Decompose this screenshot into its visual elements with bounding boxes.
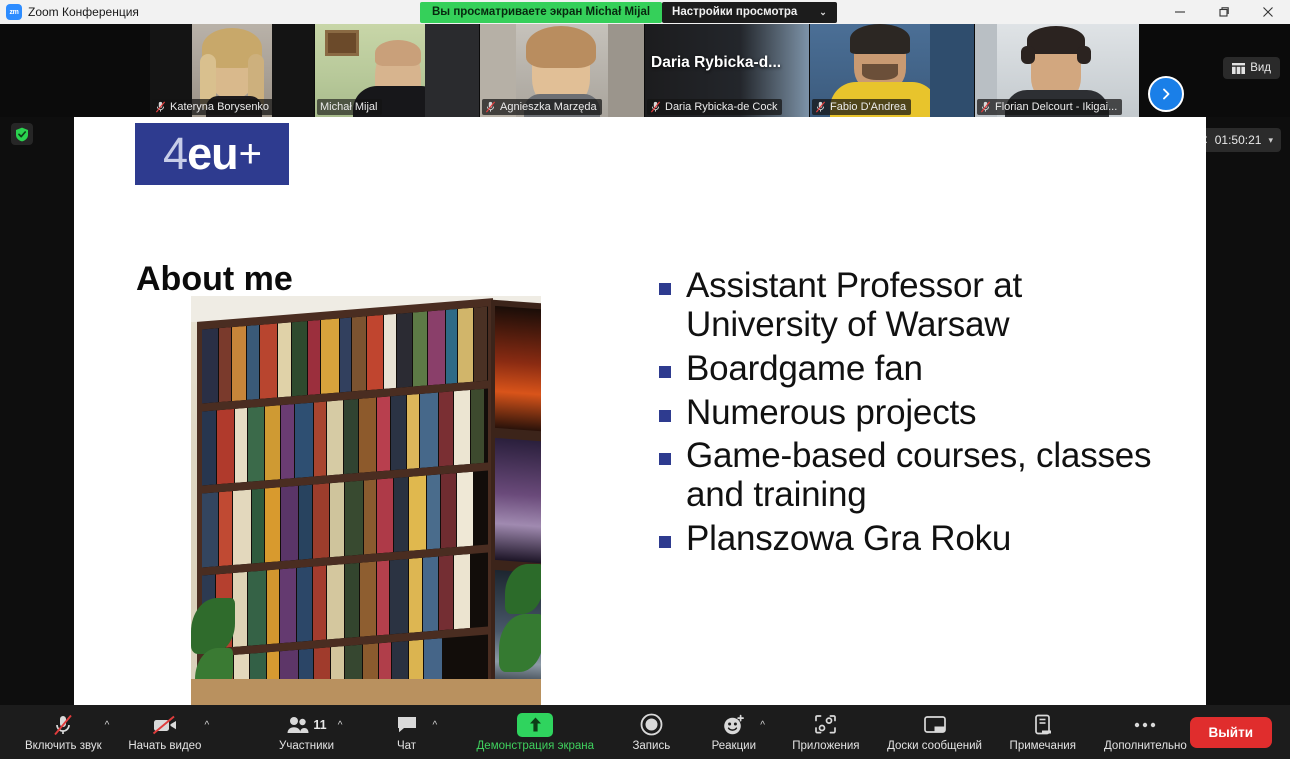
bullet-square-icon <box>659 283 671 295</box>
meeting-toolbar: Включить звук ^ Начать видео ^ <box>0 705 1290 759</box>
leave-meeting-button[interactable]: Выйти <box>1190 717 1273 748</box>
participant-tile[interactable]: Fabio D'Andrea <box>810 24 974 117</box>
video-options-caret[interactable]: ^ <box>205 720 214 745</box>
toolbar-button-reactions[interactable]: Реакции <box>707 705 760 759</box>
microphone-muted-icon <box>650 101 661 113</box>
participants-options-caret[interactable]: ^ <box>338 720 347 745</box>
toolbar-label: Участники <box>279 740 334 752</box>
zoom-logo-icon: zm <box>6 4 22 20</box>
tile-name: Michał Mijal <box>320 101 377 113</box>
slide-title: About me <box>136 260 293 299</box>
minimize-icon[interactable] <box>1158 0 1202 24</box>
participant-tiles: Kateryna Borysenko Michał Mijal <box>150 24 1140 117</box>
timer-value: 01:50:21 <box>1215 133 1262 147</box>
more-icon <box>1133 713 1157 737</box>
slide-bullet-list: Assistant Professor at University of War… <box>659 267 1169 564</box>
tile-name: Daria Rybicka-de Cock <box>665 101 777 113</box>
apps-icon <box>814 713 837 737</box>
tile-name: Agnieszka Marzęda <box>500 101 597 113</box>
toolbar-button-notes[interactable]: Примечания <box>1006 705 1079 759</box>
bullet-text: Assistant Professor at University of War… <box>686 267 1169 345</box>
tile-name-badge: Fabio D'Andrea <box>812 99 911 115</box>
close-icon[interactable] <box>1246 0 1290 24</box>
toolbar-button-participants[interactable]: 11 Участники <box>275 705 338 759</box>
view-settings-label: Настройки просмотра <box>672 2 797 23</box>
logo-word: eu <box>187 128 238 180</box>
participant-tile[interactable]: Daria Rybicka-d... Daria Rybicka-de Cock <box>645 24 809 117</box>
toolbar-button-video[interactable]: Начать видео <box>125 705 204 759</box>
toolbar-button-whiteboards[interactable]: Доски сообщений <box>885 705 984 759</box>
shared-screen-stage: ⧗ 01:50:21 ▾ 4 eu + About me <box>0 117 1290 705</box>
video-off-icon <box>152 713 178 737</box>
toolbar-label: Чат <box>397 740 416 752</box>
tile-active-speaker-label: Daria Rybicka-d... <box>651 54 781 72</box>
tile-name: Florian Delcourt - Ikigai... <box>995 101 1117 113</box>
share-screen-icon <box>517 713 553 737</box>
bullet-text: Planszowa Gra Roku <box>686 520 1011 559</box>
microphone-muted-icon <box>980 101 991 113</box>
tile-name-badge: Kateryna Borysenko <box>152 99 274 115</box>
app-title: Zoom Конференция <box>28 5 139 19</box>
toolbar-label: Примечания <box>1010 740 1076 752</box>
bullet-text: Game-based courses, classes and training <box>686 437 1169 515</box>
share-status-group: Вы просматриваете экран Michał Mijal Нас… <box>420 0 837 24</box>
reactions-options-caret[interactable]: ^ <box>760 720 769 745</box>
participant-tile[interactable]: Agnieszka Marzęda <box>480 24 644 117</box>
photo-floor <box>191 679 541 705</box>
toolbar-label: Приложения <box>792 740 859 752</box>
tile-name-badge: Agnieszka Marzęda <box>482 99 602 115</box>
microphone-muted-icon <box>485 101 496 113</box>
tile-name: Fabio D'Andrea <box>830 101 906 113</box>
toolbar-label: Доски сообщений <box>887 740 982 752</box>
toolbar-label: Включить звук <box>25 740 102 752</box>
chevron-down-icon: ▾ <box>1268 135 1273 146</box>
whiteboard-icon <box>923 713 947 737</box>
toolbar-label: Запись <box>632 740 670 752</box>
toolbar-label: Демонстрация экрана <box>477 740 595 752</box>
participant-thumbnail-strip: Kateryna Borysenko Michał Mijal <box>0 24 1290 117</box>
microphone-muted-icon <box>155 101 166 113</box>
list-item: Boardgame fan <box>659 350 1169 389</box>
microphone-muted-icon <box>53 713 73 737</box>
chevron-down-icon: ⌄ <box>819 2 827 23</box>
zoom-meeting-window: zm Zoom Конференция Вы просматриваете эк… <box>0 0 1290 759</box>
boardgame-bookshelf-photo <box>191 296 541 705</box>
bullet-square-icon <box>659 536 671 548</box>
shield-check-icon[interactable] <box>11 123 33 145</box>
participant-tile[interactable]: Kateryna Borysenko <box>150 24 314 117</box>
chevron-right-icon <box>1159 87 1173 101</box>
list-item: Numerous projects <box>659 394 1169 433</box>
notes-icon <box>1033 713 1053 737</box>
bullet-square-icon <box>659 410 671 422</box>
chat-icon <box>396 713 418 737</box>
toolbar-button-audio[interactable]: Включить звук <box>22 705 105 759</box>
bullet-text: Boardgame fan <box>686 350 923 389</box>
4eu-plus-logo: 4 eu + <box>135 123 289 185</box>
participants-count: 11 <box>313 718 326 732</box>
share-status-banner: Вы просматриваете экран Michał Mijal <box>420 2 662 23</box>
restore-icon[interactable] <box>1202 0 1246 24</box>
list-item: Assistant Professor at University of War… <box>659 267 1169 345</box>
toolbar-button-apps[interactable]: Приложения <box>789 705 863 759</box>
participant-tile[interactable]: Michał Mijal <box>315 24 479 117</box>
title-bar-left: zm Zoom Конференция <box>0 4 420 20</box>
bullet-square-icon <box>659 453 671 465</box>
title-bar: zm Zoom Конференция Вы просматриваете эк… <box>0 0 1290 24</box>
chat-options-caret[interactable]: ^ <box>433 720 442 745</box>
tile-name-badge: Daria Rybicka-de Cock <box>647 99 782 115</box>
tile-name: Kateryna Borysenko <box>170 101 269 113</box>
tile-name-badge: Florian Delcourt - Ikigai... <box>977 99 1122 115</box>
bullet-text: Numerous projects <box>686 394 976 433</box>
bullet-square-icon <box>659 366 671 378</box>
view-settings-button[interactable]: Настройки просмотра ⌄ <box>662 2 837 23</box>
participants-icon: 11 <box>286 713 326 737</box>
view-button-label: Вид <box>1250 62 1271 74</box>
participant-tile[interactable]: Florian Delcourt - Ikigai... <box>975 24 1139 117</box>
audio-options-caret[interactable]: ^ <box>105 720 114 745</box>
presentation-slide: 4 eu + About me <box>74 117 1206 705</box>
grid-icon <box>1232 63 1245 74</box>
reactions-icon <box>722 713 746 737</box>
toolbar-button-share-screen[interactable]: Демонстрация экрана <box>475 705 595 759</box>
logo-plus: + <box>239 132 261 177</box>
list-item: Planszowa Gra Roku <box>659 520 1169 559</box>
window-controls <box>1158 0 1290 24</box>
logo-digit: 4 <box>163 128 187 180</box>
toolbar-button-record[interactable]: Запись <box>625 705 677 759</box>
next-participants-button[interactable] <box>1148 76 1184 112</box>
toolbar-label: Начать видео <box>128 740 201 752</box>
view-button[interactable]: Вид <box>1223 57 1280 79</box>
toolbar-button-chat[interactable]: Чат <box>381 705 433 759</box>
toolbar-label: Дополнительно <box>1104 740 1187 752</box>
tile-name-badge: Michał Mijal <box>317 99 382 115</box>
record-icon <box>640 713 663 737</box>
microphone-muted-icon <box>815 101 826 113</box>
toolbar-button-more[interactable]: Дополнительно <box>1101 705 1189 759</box>
photo-shelf-unit <box>197 298 493 705</box>
list-item: Game-based courses, classes and training <box>659 437 1169 515</box>
toolbar-label: Реакции <box>712 740 756 752</box>
